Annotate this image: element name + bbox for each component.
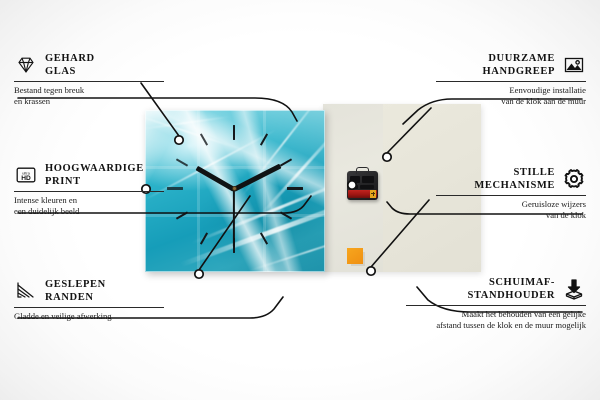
callout-title-line1: STILLE — [436, 166, 555, 179]
picture-frame-icon — [562, 53, 586, 77]
callout-divider — [14, 191, 164, 192]
callout-desc-line2: van de klok — [436, 210, 586, 221]
clock-hub — [232, 186, 237, 191]
callout-title-line2: HANDGREEP — [436, 65, 555, 78]
callout-divider — [436, 195, 586, 196]
callout-title-line2: RANDEN — [45, 291, 164, 304]
battery-plus-icon — [370, 190, 376, 198]
callout-title-line2: STANDHOUDER — [406, 289, 555, 302]
callout-title-line1: SCHUIMAF- — [406, 276, 555, 289]
callout-desc-line1: Eenvoudige installatie — [436, 85, 586, 96]
clock-hanger-icon — [356, 167, 369, 174]
diamond-icon — [14, 53, 38, 77]
callout-desc-line2: van de klok aan de muur — [436, 96, 586, 107]
callout-divider — [14, 307, 164, 308]
callout-desc-line1: Geruisloze wijzers — [436, 199, 586, 210]
clock-front-photo — [145, 110, 325, 272]
callout-gehard-glas: GEHARD GLAS Bestand tegen breuk en krass… — [14, 52, 164, 107]
clock-battery — [348, 190, 377, 198]
callout-schuimafstandhouder: SCHUIMAF- STANDHOUDER Maakt het behouden… — [406, 276, 586, 331]
clock-marker — [233, 125, 235, 140]
callout-desc-line1: Intense kleuren en — [14, 195, 164, 206]
bevelled-edges-icon — [14, 279, 38, 303]
gear-icon — [562, 167, 586, 191]
foam-spacer-pad — [347, 248, 363, 264]
callout-divider — [14, 81, 164, 82]
callout-desc-line2: en krassen — [14, 96, 164, 107]
callout-geslepen-randen: GESLEPEN RANDEN Gladde en veilige afwerk… — [14, 278, 164, 322]
callout-desc-line1: Maakt het behouden van een gelijke — [406, 309, 586, 320]
clock-second-hand — [233, 188, 235, 246]
clock-marker — [287, 187, 303, 190]
callout-duurzame-handgreep: DUURZAME HANDGREEP Eenvoudige installati… — [436, 52, 586, 107]
svg-text:HD: HD — [21, 175, 31, 182]
callout-divider — [436, 81, 586, 82]
callout-title-line1: GEHARD — [45, 52, 164, 65]
callout-title-line2: PRINT — [45, 175, 164, 188]
callout-desc-line1: Gladde en veilige afwerking — [14, 311, 164, 322]
callout-desc-line1: Bestand tegen breuk — [14, 85, 164, 96]
callout-title-line2: MECHANISME — [436, 179, 555, 192]
callout-hoogwaardige-print: ultra HD HOOGWAARDIGE PRINT Intense kleu… — [14, 162, 164, 217]
product-infographic: GEHARD GLAS Bestand tegen breuk en krass… — [0, 0, 600, 400]
ultra-hd-icon: ultra HD — [14, 163, 38, 187]
callout-title-line2: GLAS — [45, 65, 164, 78]
callout-title-line1: GESLEPEN — [45, 278, 164, 291]
callout-stille-mechanisme: STILLE MECHANISME Geruisloze wijzers van… — [436, 166, 586, 221]
callout-desc-line2: een duidelijk beeld — [14, 206, 164, 217]
callout-title-line1: DUURZAME — [436, 52, 555, 65]
clock-marker — [167, 187, 183, 190]
spacer-arrow-icon — [562, 277, 586, 301]
callout-title-line1: HOOGWAARDIGE — [45, 162, 164, 175]
callout-desc-line2: afstand tussen de klok en de muur mogeli… — [406, 320, 586, 331]
callout-divider — [406, 305, 586, 306]
